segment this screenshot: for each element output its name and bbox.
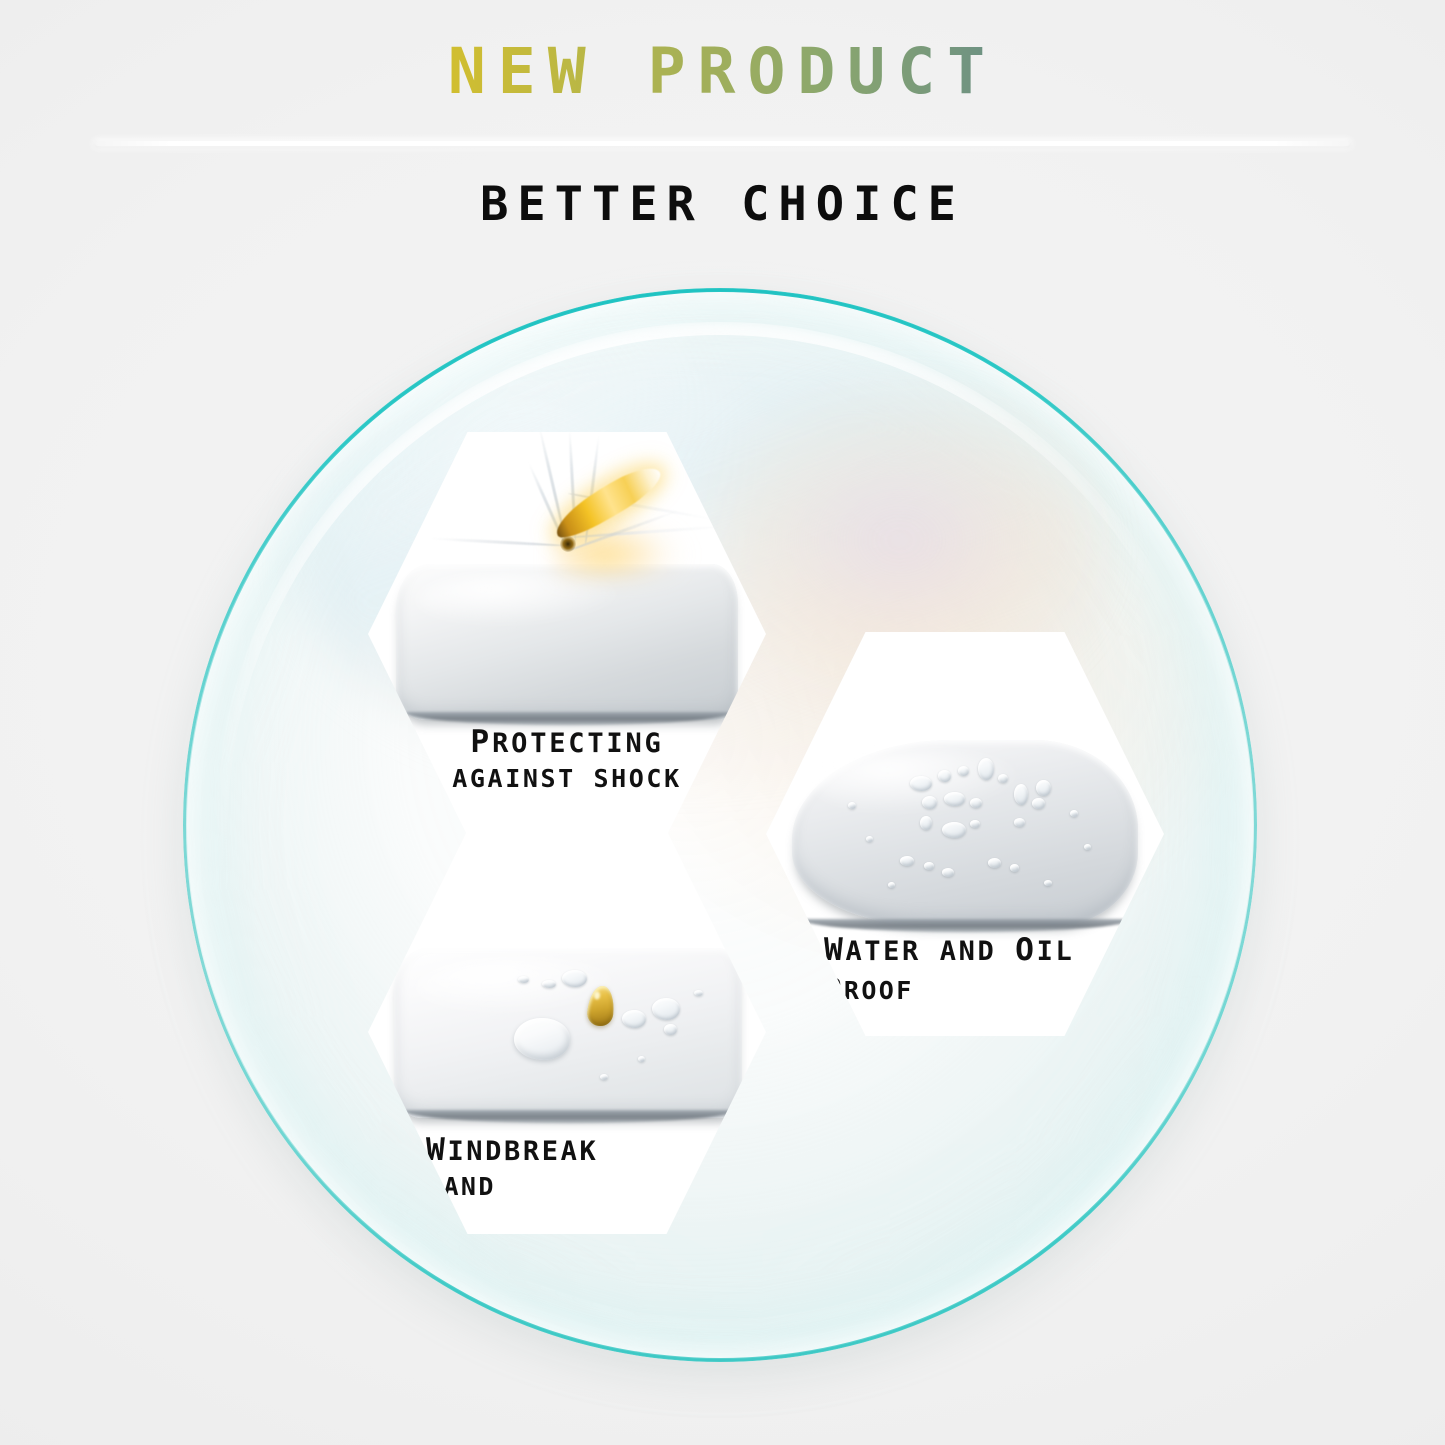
water-droplet-icon [652, 998, 680, 1020]
large-water-droplet-icon [514, 1018, 570, 1060]
water-droplet-icon [664, 1024, 677, 1035]
lens-image-waterproof [792, 740, 1138, 926]
water-droplet-icon [518, 976, 529, 983]
feature-card-windbreak-content: WINDBREAK SAND [368, 830, 766, 1234]
water-droplet-icon [938, 770, 951, 782]
header: NEW PRODUCT BETTER CHOICE [0, 0, 1445, 260]
water-droplet-icon [542, 980, 556, 988]
water-droplet-icon [998, 774, 1008, 783]
water-droplet-icon [988, 858, 1001, 868]
feature-caption-windbreak: WINDBREAK SAND [368, 1130, 766, 1203]
debris-streak-icon [584, 435, 600, 545]
water-droplet-icon [1070, 810, 1078, 817]
water-droplet-icon [562, 970, 587, 987]
divider-line [95, 141, 1350, 146]
feature-caption-line2: SAND [426, 1171, 766, 1204]
feature-caption-line1: WINDBREAK [426, 1130, 766, 1171]
feature-card-shock[interactable]: PROTECTING AGAINST SHOCK [368, 432, 766, 836]
water-droplet-icon [978, 758, 994, 780]
page-subtitle: BETTER CHOICE [0, 181, 1445, 228]
water-droplet-icon [1014, 784, 1028, 805]
debris-streak-icon [428, 537, 563, 547]
water-droplet-icon [888, 882, 895, 888]
water-droplet-icon [1044, 880, 1052, 886]
water-droplet-icon [1036, 780, 1051, 796]
feature-caption-line2: PROOF [824, 971, 1164, 1009]
feature-card-waterproof-content: WATER AND OIL PROOF [766, 632, 1164, 1036]
feature-caption-shock: PROTECTING AGAINST SHOCK [368, 722, 766, 795]
lens-highlight [417, 573, 629, 626]
water-droplet-icon [924, 862, 934, 870]
water-droplet-icon [638, 1056, 645, 1062]
water-droplet-icon [910, 776, 932, 791]
feature-card-shock-content: PROTECTING AGAINST SHOCK [368, 432, 766, 836]
water-droplet-icon [1010, 864, 1019, 872]
water-droplet-icon [694, 990, 703, 996]
water-droplet-icon [922, 796, 937, 809]
lens-bottom-edge [802, 919, 1131, 932]
water-droplet-icon [970, 798, 982, 808]
water-droplet-icon [1084, 844, 1091, 850]
water-droplet-icon [942, 868, 954, 877]
feature-caption-line1: WATER AND OIL [824, 930, 1164, 971]
feature-caption-line1: PROTECTING [368, 722, 766, 763]
water-droplet-icon [622, 1010, 646, 1028]
lens-image-shock [396, 564, 738, 720]
feature-card-windbreak[interactable]: WINDBREAK SAND [368, 830, 766, 1234]
page-title: NEW PRODUCT [0, 40, 1445, 103]
water-droplet-icon [958, 766, 969, 776]
header-divider [95, 137, 1350, 151]
water-droplet-icon [944, 792, 965, 806]
water-droplet-icon [848, 802, 856, 809]
water-droplet-icon [920, 816, 932, 830]
debris-streak-icon [568, 428, 577, 542]
water-droplet-icon [942, 822, 966, 838]
water-droplet-icon [600, 1074, 608, 1080]
water-droplet-icon [866, 836, 873, 842]
debris-streak-icon [537, 425, 566, 541]
feature-card-waterproof[interactable]: WATER AND OIL PROOF [766, 632, 1164, 1036]
lens-bottom-edge [406, 712, 731, 725]
water-droplet-icon [1032, 798, 1045, 809]
water-droplet-icon [900, 856, 914, 866]
lens-bottom-edge [404, 1110, 735, 1123]
lens-image-windbreak [394, 948, 742, 1118]
feature-caption-line2: AGAINST SHOCK [368, 763, 766, 796]
water-droplet-icon [1014, 818, 1025, 827]
water-droplet-icon [970, 820, 980, 828]
debris-streak-icon [568, 524, 733, 539]
feature-caption-waterproof: WATER AND OIL PROOF [766, 930, 1164, 1008]
